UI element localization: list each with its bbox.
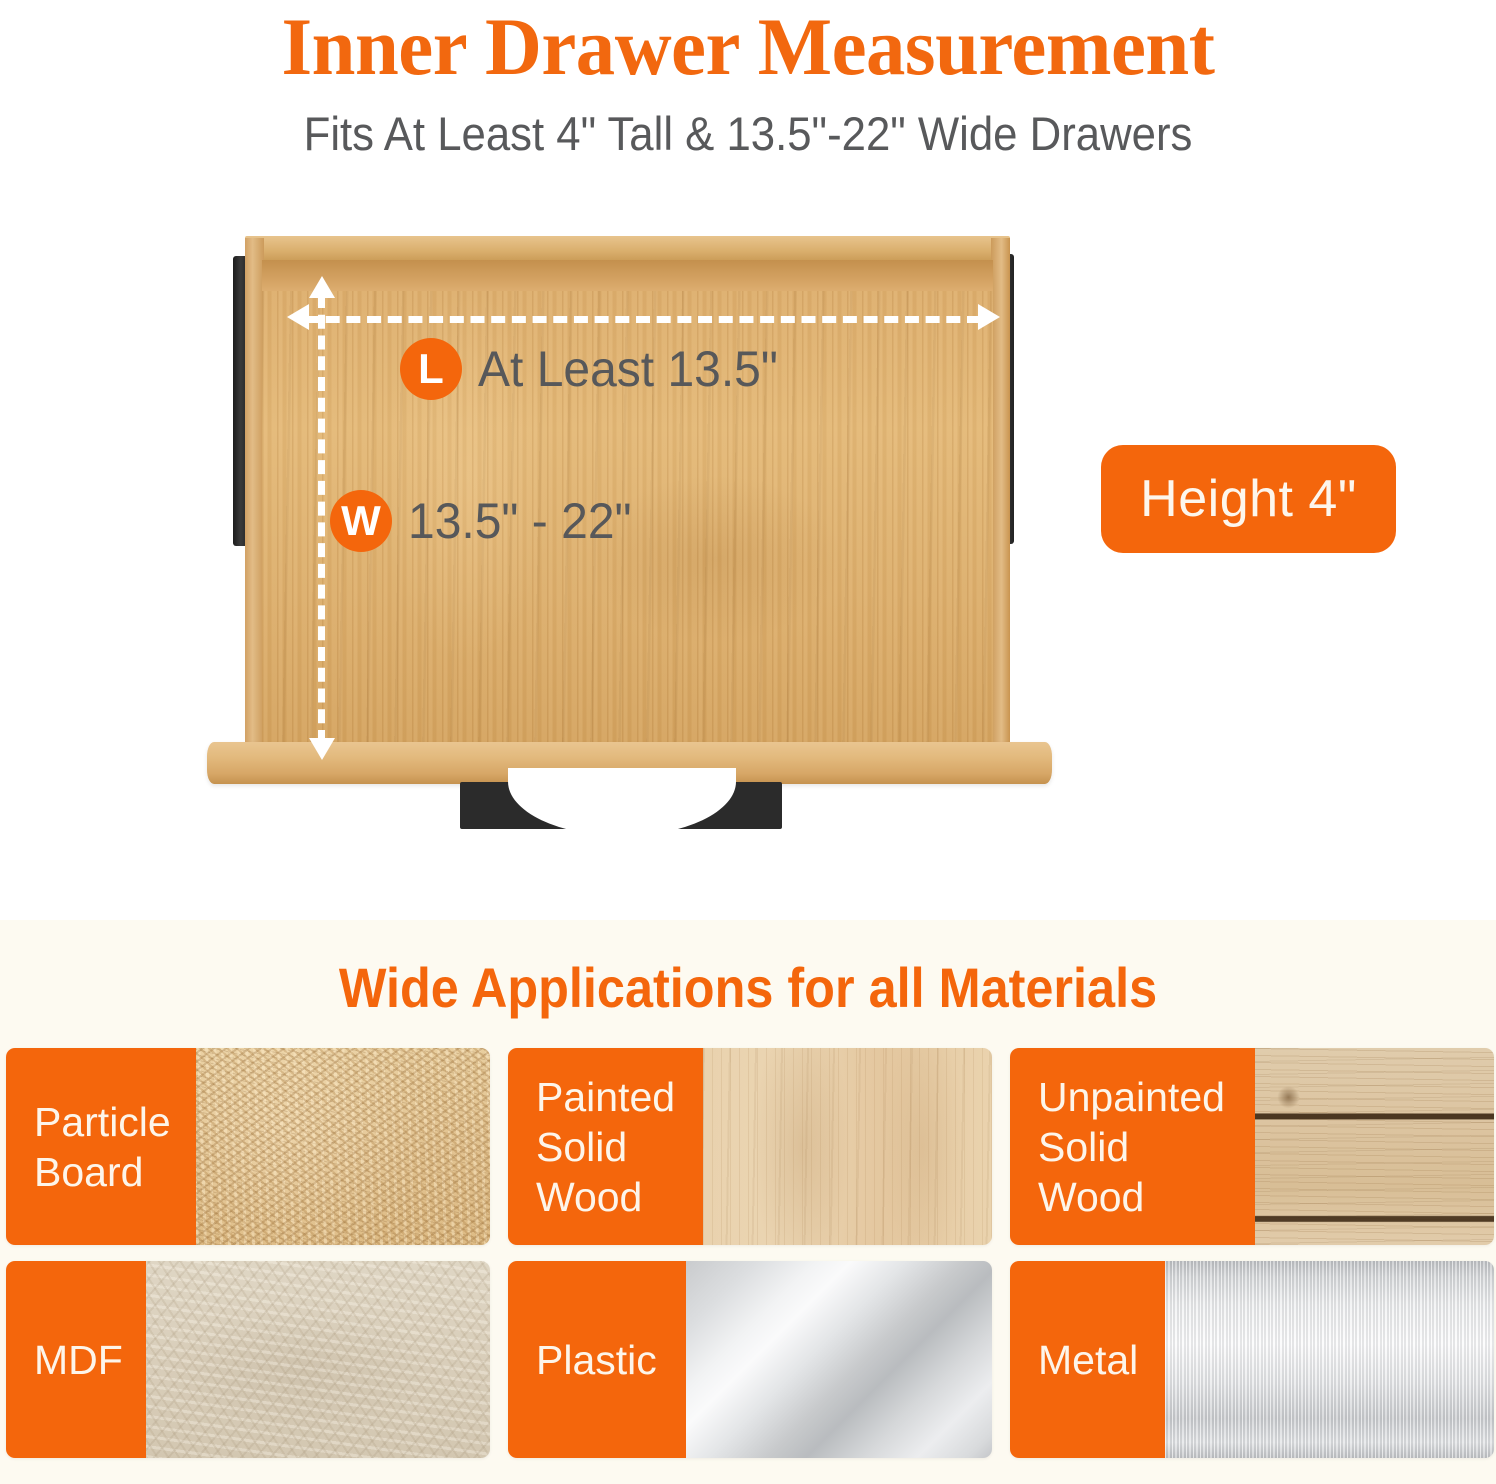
arrow-left-icon [287,304,309,330]
unpainted-solid-wood-swatch-image [1255,1048,1494,1245]
width-dimension-label: W 13.5" - 22" [330,490,641,552]
material-card-label: MDF [6,1261,146,1458]
painted-solid-wood-swatch-image [703,1048,992,1245]
vertical-dimension-line [318,294,325,744]
materials-section: Wide Applications for all Materials Part… [0,920,1496,1484]
arrow-down-icon [309,738,335,760]
materials-section-title: Wide Applications for all Materials [75,956,1421,1020]
length-dimension-label: L At Least 13.5" [400,338,790,400]
material-card-label: Plastic [508,1261,686,1458]
material-card: Particle Board [6,1048,490,1245]
horizontal-dimension-line [305,316,981,323]
drawer-illustration: L At Least 13.5" W 13.5" - 22" [195,232,1065,842]
arrow-up-icon [309,276,335,298]
drawer-top-rim [245,236,1010,262]
material-card: Metal [1010,1261,1494,1458]
metal-swatch-image [1165,1261,1494,1458]
material-card-label: Metal [1010,1261,1165,1458]
width-badge-icon: W [330,490,392,552]
material-card-label: Painted Solid Wood [508,1048,703,1245]
drawer-inner-back-wall [262,260,993,294]
material-card: Unpainted Solid Wood [1010,1048,1494,1245]
mdf-swatch-image [146,1261,490,1458]
length-badge-icon: L [400,338,462,400]
width-dimension-value: 13.5" - 22" [408,492,632,550]
material-card-label: Unpainted Solid Wood [1010,1048,1255,1245]
height-badge: Height 4" [1101,445,1396,553]
page-title: Inner Drawer Measurement [30,2,1466,92]
measurement-section: Inner Drawer Measurement Fits At Least 4… [0,0,1496,920]
material-card-label: Particle Board [6,1048,196,1245]
material-card: Painted Solid Wood [508,1048,992,1245]
plastic-swatch-image [686,1261,992,1458]
materials-card-grid: Particle Board Painted Solid Wood Unpain… [6,1048,1490,1458]
arrow-right-icon [978,304,1000,330]
page-subtitle: Fits At Least 4" Tall & 13.5"-22" Wide D… [52,104,1443,164]
material-card: MDF [6,1261,490,1458]
length-dimension-value: At Least 13.5" [478,340,778,398]
particle-board-swatch-image [196,1048,490,1245]
material-card: Plastic [508,1261,992,1458]
